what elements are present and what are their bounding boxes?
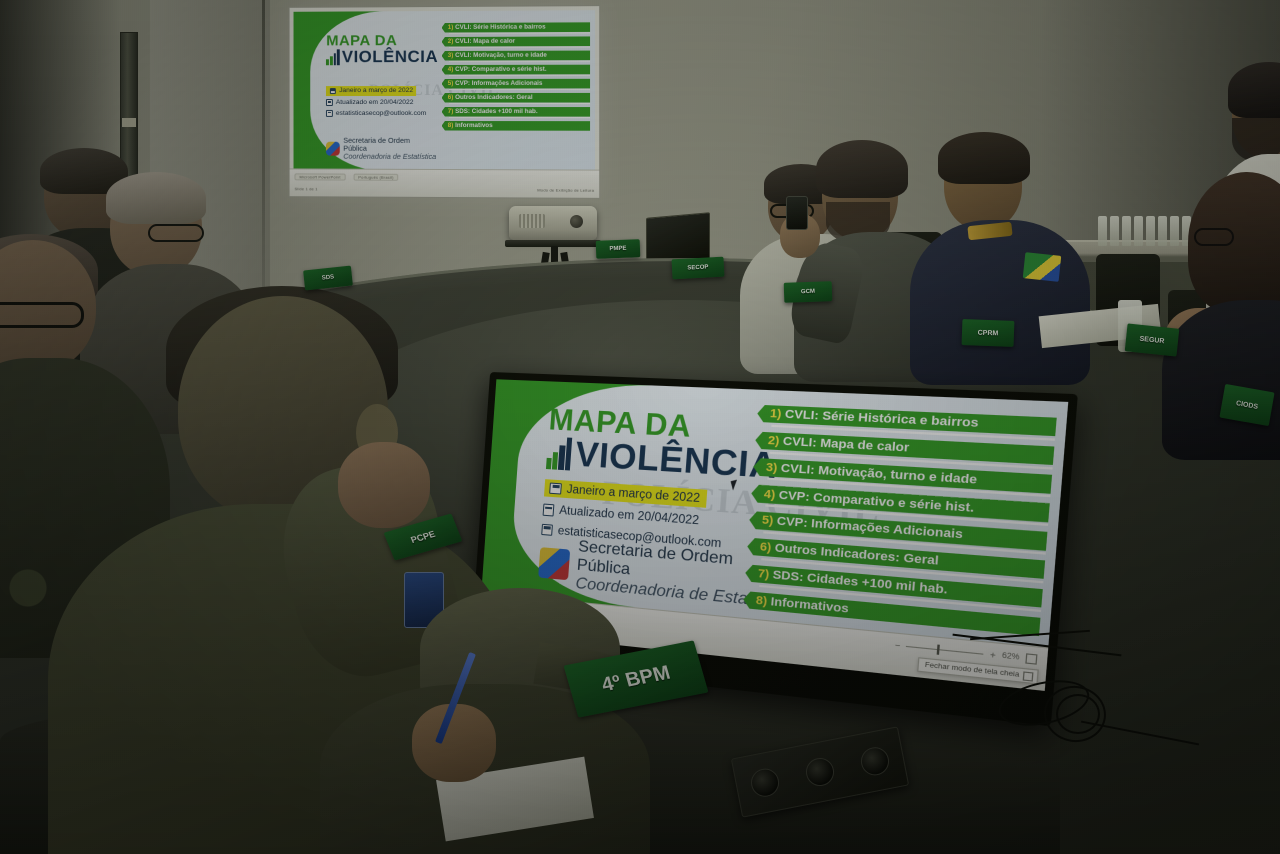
menu-item: 5) CVP: Informações Adicionais [442,79,591,89]
menu-item: 6) Outros Indicadores: Geral [442,93,591,103]
calendar-icon [330,88,337,95]
wall-seam [262,0,265,300]
zoom-slider-handle[interactable] [937,645,940,655]
glasses-icon [0,302,84,328]
refresh-icon [326,99,333,106]
name-plaque: SECOP [672,257,725,280]
calendar-icon [549,482,561,495]
bar-chart-icon [326,49,340,65]
person-with-cap-writing [400,588,670,854]
org-line3: Coordenadoria de Estatística [343,152,436,161]
menu-item: 3) CVLI: Motivação, turno e idade [442,51,591,61]
menu-item: 1) CVLI: Série Histórica e bairros [442,22,591,32]
coiled-cables [960,628,1280,808]
status-center-projected: Português (Brasil) [353,174,398,181]
name-plaque: PMPE [596,239,641,259]
menu-item: 4) CVP: Comparativo e série hist. [442,65,591,75]
projector-vent-icon [519,214,545,228]
status-right-projected: Modo de Exibição de Leitura [537,187,594,192]
status-app-projected: Microsoft PowerPoint [295,173,346,180]
outlet-socket[interactable] [749,766,782,799]
refresh-icon [542,504,554,517]
menu-item: 2) CVLI: Mapa de calor [442,36,591,46]
projection-screen: POLÍCIA CIVIL MAPA DA VIOLÊNCIA Janeiro … [289,5,601,199]
name-plaque: GCM [784,281,833,303]
projector-lens-icon [570,215,583,228]
menu-item: 8) Informativos [442,121,591,131]
outlet-socket[interactable] [804,756,837,789]
government-seal-icon [326,142,340,156]
outlet-socket[interactable] [859,745,892,778]
zoom-out-button[interactable]: − [894,640,900,651]
flag-patch-icon [1023,252,1062,282]
person-seated-right [1172,182,1280,412]
bar-chart-icon [545,436,572,470]
glasses-icon [1194,228,1234,246]
status-left-projected: Slide 1 de 1 [295,186,318,191]
mobile-phone [786,196,808,230]
slide-org: Secretaria de Ordem Pública Coordenadori… [326,137,436,162]
slide-menu-projected: 1) CVLI: Série Histórica e bairros 2) CV… [442,22,591,130]
menu-item: 7) SDS: Cidades +100 mil hab. [442,107,591,117]
slide-menu: 1) CVLI: Série Histórica e bairros 2) CV… [743,405,1057,637]
projected-slide: POLÍCIA CIVIL MAPA DA VIOLÊNCIA Janeiro … [294,10,596,171]
name-plaque: SEGUR [1125,323,1180,356]
person-police-officer [916,138,1076,328]
meeting-room-photo: POLÍCIA CIVIL MAPA DA VIOLÊNCIA Janeiro … [0,0,1280,854]
name-plaque: CPRM [962,319,1015,347]
projector [509,206,597,240]
period-row: Janeiro a março de 2022 [326,86,416,95]
mail-icon [326,110,333,117]
projected-status-bar: Microsoft PowerPoint Português (Brasil) … [290,168,600,197]
